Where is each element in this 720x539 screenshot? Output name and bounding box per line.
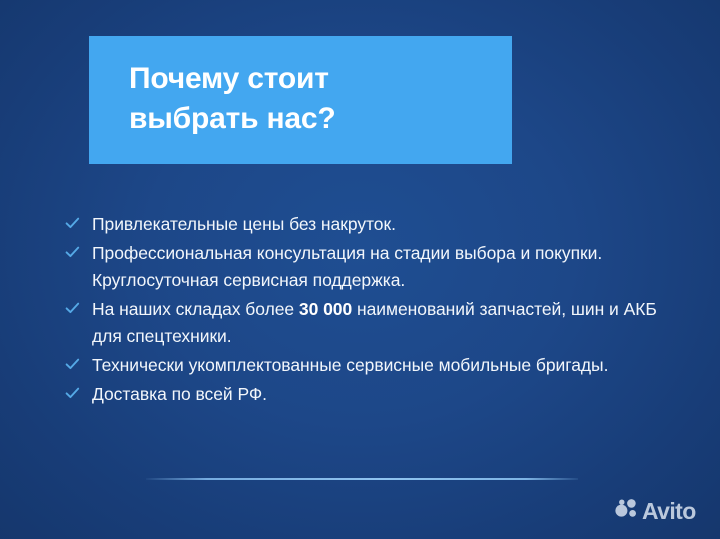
check-icon [65, 245, 80, 260]
list-item-label: Технически укомплектованные сервисные мо… [92, 355, 608, 375]
check-icon [65, 216, 80, 231]
check-icon [65, 301, 80, 316]
list-item: Доставка по всей РФ. [64, 381, 664, 409]
list-item-label: Профессиональная консультация на стадии … [92, 243, 602, 291]
promo-slide: Почему стоит выбрать нас? Привлекательны… [0, 0, 720, 539]
avito-logo-icon [615, 499, 638, 523]
avito-wordmark: Avito [642, 500, 696, 523]
list-item: На наших складах более 30 000 наименован… [64, 296, 664, 351]
check-icon [65, 357, 80, 372]
divider [146, 478, 578, 480]
check-icon [65, 386, 80, 401]
list-item: Профессиональная консультация на стадии … [64, 240, 664, 295]
list-item: Технически укомплектованные сервисные мо… [64, 352, 664, 380]
page-title: Почему стоит выбрать нас? [129, 59, 336, 139]
benefits-list: Привлекательные цены без накруток. Профе… [64, 211, 664, 409]
title-panel: Почему стоит выбрать нас? [89, 36, 512, 164]
list-item-label: На наших складах более 30 000 наименован… [92, 299, 657, 347]
list-item-label: Доставка по всей РФ. [92, 384, 267, 404]
list-item: Привлекательные цены без накруток. [64, 211, 664, 239]
avito-watermark: Avito [615, 499, 696, 523]
list-item-label: Привлекательные цены без накруток. [92, 214, 396, 234]
